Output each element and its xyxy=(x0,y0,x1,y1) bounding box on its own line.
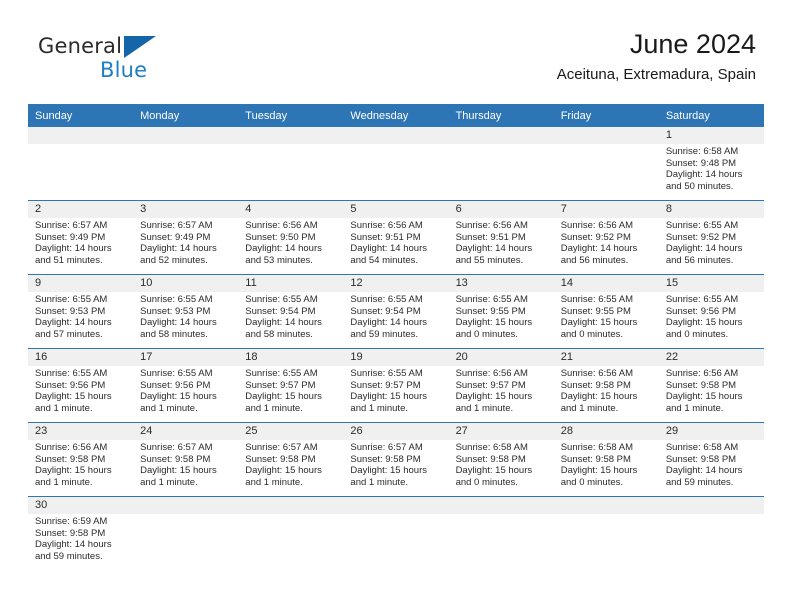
day-sun-info: Sunrise: 6:58 AMSunset: 9:58 PMDaylight:… xyxy=(449,440,554,489)
sunset-text: Sunset: 9:52 PM xyxy=(666,232,758,244)
daylight-text-line1: Daylight: 14 hours xyxy=(140,243,232,255)
day-number: 21 xyxy=(554,349,659,366)
sunrise-text: Sunrise: 6:57 AM xyxy=(245,442,337,454)
day-sun-info: Sunrise: 6:55 AMSunset: 9:56 PMDaylight:… xyxy=(659,292,764,341)
day-number: 5 xyxy=(343,201,448,218)
calendar-cell-inner xyxy=(343,497,448,570)
calendar-cell-inner: 14Sunrise: 6:55 AMSunset: 9:55 PMDayligh… xyxy=(554,275,659,348)
sunrise-text: Sunrise: 6:58 AM xyxy=(666,442,758,454)
daylight-text-line1: Daylight: 14 hours xyxy=(140,317,232,329)
day-sun-info: Sunrise: 6:58 AMSunset: 9:58 PMDaylight:… xyxy=(659,440,764,489)
calendar-cell-inner: 17Sunrise: 6:55 AMSunset: 9:56 PMDayligh… xyxy=(133,349,238,422)
calendar-cell-inner: 6Sunrise: 6:56 AMSunset: 9:51 PMDaylight… xyxy=(449,201,554,274)
sunset-text: Sunset: 9:54 PM xyxy=(350,306,442,318)
daylight-text-line1: Daylight: 14 hours xyxy=(245,243,337,255)
day-number: 17 xyxy=(133,349,238,366)
daylight-text-line2: and 56 minutes. xyxy=(666,255,758,267)
daylight-text-line2: and 1 minute. xyxy=(456,403,548,415)
calendar-cell-inner: 23Sunrise: 6:56 AMSunset: 9:58 PMDayligh… xyxy=(28,423,133,496)
daylight-text-line1: Daylight: 14 hours xyxy=(666,465,758,477)
day-number: 8 xyxy=(659,201,764,218)
sunset-text: Sunset: 9:58 PM xyxy=(140,454,232,466)
day-sun-info: Sunrise: 6:55 AMSunset: 9:53 PMDaylight:… xyxy=(133,292,238,341)
calendar-cell-inner: 22Sunrise: 6:56 AMSunset: 9:58 PMDayligh… xyxy=(659,349,764,422)
calendar-day-cell[interactable]: 2Sunrise: 6:57 AMSunset: 9:49 PMDaylight… xyxy=(28,201,133,275)
day-number: 14 xyxy=(554,275,659,292)
calendar-day-cell[interactable]: 22Sunrise: 6:56 AMSunset: 9:58 PMDayligh… xyxy=(659,349,764,423)
calendar-day-cell[interactable]: 12Sunrise: 6:55 AMSunset: 9:54 PMDayligh… xyxy=(343,275,448,349)
day-sun-info: Sunrise: 6:58 AMSunset: 9:58 PMDaylight:… xyxy=(554,440,659,489)
daylight-text-line1: Daylight: 15 hours xyxy=(666,317,758,329)
sunrise-text: Sunrise: 6:55 AM xyxy=(245,368,337,380)
calendar-cell-inner xyxy=(554,497,659,570)
calendar-cell-inner xyxy=(133,127,238,200)
sunset-text: Sunset: 9:58 PM xyxy=(456,454,548,466)
sunrise-text: Sunrise: 6:57 AM xyxy=(140,442,232,454)
sunrise-text: Sunrise: 6:59 AM xyxy=(35,516,127,528)
calendar-cell-inner: 27Sunrise: 6:58 AMSunset: 9:58 PMDayligh… xyxy=(449,423,554,496)
daylight-text-line2: and 1 minute. xyxy=(666,403,758,415)
weekday-header-monday: Monday xyxy=(133,104,238,127)
daylight-text-line1: Daylight: 14 hours xyxy=(350,317,442,329)
daylight-text-line1: Daylight: 15 hours xyxy=(456,391,548,403)
calendar-cell-inner: 26Sunrise: 6:57 AMSunset: 9:58 PMDayligh… xyxy=(343,423,448,496)
calendar-day-cell[interactable]: 16Sunrise: 6:55 AMSunset: 9:56 PMDayligh… xyxy=(28,349,133,423)
calendar-cell-inner: 16Sunrise: 6:55 AMSunset: 9:56 PMDayligh… xyxy=(28,349,133,422)
sunrise-text: Sunrise: 6:58 AM xyxy=(666,146,758,158)
day-number: 20 xyxy=(449,349,554,366)
sunset-text: Sunset: 9:58 PM xyxy=(666,454,758,466)
day-number: 4 xyxy=(238,201,343,218)
sunrise-text: Sunrise: 6:55 AM xyxy=(140,294,232,306)
calendar-day-cell[interactable]: 26Sunrise: 6:57 AMSunset: 9:58 PMDayligh… xyxy=(343,423,448,497)
daylight-text-line1: Daylight: 15 hours xyxy=(666,391,758,403)
calendar-day-cell[interactable]: 29Sunrise: 6:58 AMSunset: 9:58 PMDayligh… xyxy=(659,423,764,497)
day-number: 19 xyxy=(343,349,448,366)
day-number: 12 xyxy=(343,275,448,292)
day-number: 28 xyxy=(554,423,659,440)
daylight-text-line1: Daylight: 14 hours xyxy=(350,243,442,255)
calendar-body: 1Sunrise: 6:58 AMSunset: 9:48 PMDaylight… xyxy=(28,127,764,570)
daylight-text-line1: Daylight: 15 hours xyxy=(140,391,232,403)
sunrise-text: Sunrise: 6:56 AM xyxy=(456,368,548,380)
sunrise-text: Sunrise: 6:58 AM xyxy=(561,442,653,454)
daylight-text-line2: and 1 minute. xyxy=(140,403,232,415)
daylight-text-line2: and 1 minute. xyxy=(350,477,442,489)
calendar-cell-inner xyxy=(238,497,343,570)
sunset-text: Sunset: 9:49 PM xyxy=(140,232,232,244)
calendar-cell-empty xyxy=(343,127,448,201)
sunrise-text: Sunrise: 6:55 AM xyxy=(666,220,758,232)
page-title: June 2024 xyxy=(557,28,756,60)
calendar-day-cell[interactable]: 23Sunrise: 6:56 AMSunset: 9:58 PMDayligh… xyxy=(28,423,133,497)
daylight-text-line1: Daylight: 15 hours xyxy=(561,317,653,329)
calendar-cell-inner: 4Sunrise: 6:56 AMSunset: 9:50 PMDaylight… xyxy=(238,201,343,274)
calendar-day-cell[interactable]: 3Sunrise: 6:57 AMSunset: 9:49 PMDaylight… xyxy=(133,201,238,275)
title-block: June 2024 Aceituna, Extremadura, Spain xyxy=(557,28,756,86)
sunrise-text: Sunrise: 6:57 AM xyxy=(140,220,232,232)
sunset-text: Sunset: 9:55 PM xyxy=(456,306,548,318)
sunrise-text: Sunrise: 6:56 AM xyxy=(350,220,442,232)
day-number xyxy=(238,497,343,514)
sunrise-text: Sunrise: 6:55 AM xyxy=(456,294,548,306)
calendar-day-cell[interactable]: 21Sunrise: 6:56 AMSunset: 9:58 PMDayligh… xyxy=(554,349,659,423)
calendar-cell-inner xyxy=(133,497,238,570)
calendar-cell-inner: 24Sunrise: 6:57 AMSunset: 9:58 PMDayligh… xyxy=(133,423,238,496)
calendar-day-cell[interactable]: 5Sunrise: 6:56 AMSunset: 9:51 PMDaylight… xyxy=(343,201,448,275)
calendar-cell-inner xyxy=(659,497,764,570)
calendar-day-cell[interactable]: 27Sunrise: 6:58 AMSunset: 9:58 PMDayligh… xyxy=(449,423,554,497)
daylight-text-line1: Daylight: 15 hours xyxy=(245,465,337,477)
day-number: 29 xyxy=(659,423,764,440)
calendar-day-cell[interactable]: 8Sunrise: 6:55 AMSunset: 9:52 PMDaylight… xyxy=(659,201,764,275)
calendar-cell-inner: 11Sunrise: 6:55 AMSunset: 9:54 PMDayligh… xyxy=(238,275,343,348)
weekday-header-friday: Friday xyxy=(554,104,659,127)
calendar-cell-inner: 15Sunrise: 6:55 AMSunset: 9:56 PMDayligh… xyxy=(659,275,764,348)
day-number xyxy=(343,127,448,144)
day-number: 7 xyxy=(554,201,659,218)
calendar-day-cell[interactable]: 14Sunrise: 6:55 AMSunset: 9:55 PMDayligh… xyxy=(554,275,659,349)
weekday-header-saturday: Saturday xyxy=(659,104,764,127)
daylight-text-line1: Daylight: 15 hours xyxy=(35,391,127,403)
calendar-week-row: 2Sunrise: 6:57 AMSunset: 9:49 PMDaylight… xyxy=(28,201,764,275)
day-sun-info: Sunrise: 6:58 AMSunset: 9:48 PMDaylight:… xyxy=(659,144,764,193)
day-sun-info: Sunrise: 6:55 AMSunset: 9:56 PMDaylight:… xyxy=(28,366,133,415)
calendar-cell-empty xyxy=(28,127,133,201)
page-header: General Blue June 2024 Aceituna, Extrema… xyxy=(28,28,764,98)
sunset-text: Sunset: 9:58 PM xyxy=(35,528,127,540)
daylight-text-line2: and 0 minutes. xyxy=(561,477,653,489)
calendar-cell-inner xyxy=(554,127,659,200)
day-number xyxy=(554,127,659,144)
day-number: 26 xyxy=(343,423,448,440)
daylight-text-line2: and 0 minutes. xyxy=(561,329,653,341)
day-number: 23 xyxy=(28,423,133,440)
daylight-text-line2: and 1 minute. xyxy=(245,403,337,415)
sunrise-text: Sunrise: 6:57 AM xyxy=(35,220,127,232)
daylight-text-line2: and 58 minutes. xyxy=(140,329,232,341)
page-subtitle: Aceituna, Extremadura, Spain xyxy=(557,64,756,86)
calendar-day-cell[interactable]: 9Sunrise: 6:55 AMSunset: 9:53 PMDaylight… xyxy=(28,275,133,349)
calendar-cell-inner: 28Sunrise: 6:58 AMSunset: 9:58 PMDayligh… xyxy=(554,423,659,496)
sunrise-text: Sunrise: 6:55 AM xyxy=(245,294,337,306)
daylight-text-line2: and 55 minutes. xyxy=(456,255,548,267)
calendar-day-cell[interactable]: 30Sunrise: 6:59 AMSunset: 9:58 PMDayligh… xyxy=(28,497,133,571)
daylight-text-line2: and 59 minutes. xyxy=(35,551,127,563)
sunrise-text: Sunrise: 6:55 AM xyxy=(35,294,127,306)
day-number: 10 xyxy=(133,275,238,292)
day-sun-info: Sunrise: 6:56 AMSunset: 9:50 PMDaylight:… xyxy=(238,218,343,267)
calendar-cell-inner: 13Sunrise: 6:55 AMSunset: 9:55 PMDayligh… xyxy=(449,275,554,348)
daylight-text-line2: and 59 minutes. xyxy=(666,477,758,489)
day-number: 22 xyxy=(659,349,764,366)
calendar-cell-inner: 10Sunrise: 6:55 AMSunset: 9:53 PMDayligh… xyxy=(133,275,238,348)
day-sun-info: Sunrise: 6:59 AMSunset: 9:58 PMDaylight:… xyxy=(28,514,133,563)
day-sun-info: Sunrise: 6:57 AMSunset: 9:58 PMDaylight:… xyxy=(238,440,343,489)
sunset-text: Sunset: 9:58 PM xyxy=(561,380,653,392)
daylight-text-line1: Daylight: 15 hours xyxy=(35,465,127,477)
weekday-header-wednesday: Wednesday xyxy=(343,104,448,127)
sunset-text: Sunset: 9:58 PM xyxy=(35,454,127,466)
day-number xyxy=(659,497,764,514)
sunset-text: Sunset: 9:51 PM xyxy=(350,232,442,244)
sunrise-text: Sunrise: 6:56 AM xyxy=(666,368,758,380)
calendar-day-cell[interactable]: 28Sunrise: 6:58 AMSunset: 9:58 PMDayligh… xyxy=(554,423,659,497)
day-sun-info: Sunrise: 6:57 AMSunset: 9:49 PMDaylight:… xyxy=(28,218,133,267)
sunrise-text: Sunrise: 6:56 AM xyxy=(561,220,653,232)
daylight-text-line2: and 51 minutes. xyxy=(35,255,127,267)
daylight-text-line1: Daylight: 14 hours xyxy=(245,317,337,329)
calendar-day-cell[interactable]: 13Sunrise: 6:55 AMSunset: 9:55 PMDayligh… xyxy=(449,275,554,349)
sunrise-text: Sunrise: 6:55 AM xyxy=(561,294,653,306)
calendar-page: General Blue June 2024 Aceituna, Extrema… xyxy=(0,0,792,612)
day-number xyxy=(238,127,343,144)
day-number xyxy=(28,127,133,144)
sunset-text: Sunset: 9:58 PM xyxy=(350,454,442,466)
daylight-text-line2: and 0 minutes. xyxy=(666,329,758,341)
calendar-cell-inner: 20Sunrise: 6:56 AMSunset: 9:57 PMDayligh… xyxy=(449,349,554,422)
sunrise-text: Sunrise: 6:55 AM xyxy=(350,294,442,306)
sunrise-text: Sunrise: 6:56 AM xyxy=(561,368,653,380)
day-sun-info: Sunrise: 6:56 AMSunset: 9:51 PMDaylight:… xyxy=(449,218,554,267)
brand-name-general: General xyxy=(38,34,122,58)
calendar-cell-empty xyxy=(659,497,764,571)
calendar-cell-empty xyxy=(449,497,554,571)
brand-name-blue: Blue xyxy=(100,58,147,82)
sunset-text: Sunset: 9:52 PM xyxy=(561,232,653,244)
calendar-cell-inner xyxy=(28,127,133,200)
daylight-text-line1: Daylight: 14 hours xyxy=(35,539,127,551)
calendar-grid: Sunday Monday Tuesday Wednesday Thursday… xyxy=(28,104,764,570)
day-number: 15 xyxy=(659,275,764,292)
day-sun-info: Sunrise: 6:56 AMSunset: 9:51 PMDaylight:… xyxy=(343,218,448,267)
calendar-cell-inner: 9Sunrise: 6:55 AMSunset: 9:53 PMDaylight… xyxy=(28,275,133,348)
daylight-text-line1: Daylight: 14 hours xyxy=(35,317,127,329)
calendar-day-cell[interactable]: 4Sunrise: 6:56 AMSunset: 9:50 PMDaylight… xyxy=(238,201,343,275)
calendar-cell-inner: 3Sunrise: 6:57 AMSunset: 9:49 PMDaylight… xyxy=(133,201,238,274)
brand-logo[interactable]: General Blue xyxy=(38,34,238,90)
calendar-cell-empty xyxy=(238,127,343,201)
daylight-text-line2: and 1 minute. xyxy=(350,403,442,415)
daylight-text-line1: Daylight: 15 hours xyxy=(561,465,653,477)
sunset-text: Sunset: 9:51 PM xyxy=(456,232,548,244)
calendar-cell-empty xyxy=(554,497,659,571)
calendar-cell-inner: 5Sunrise: 6:56 AMSunset: 9:51 PMDaylight… xyxy=(343,201,448,274)
daylight-text-line2: and 1 minute. xyxy=(35,403,127,415)
calendar-cell-empty xyxy=(554,127,659,201)
daylight-text-line1: Daylight: 15 hours xyxy=(350,391,442,403)
calendar-cell-empty xyxy=(343,497,448,571)
calendar-cell-inner xyxy=(449,127,554,200)
sunrise-text: Sunrise: 6:55 AM xyxy=(666,294,758,306)
weekday-header-tuesday: Tuesday xyxy=(238,104,343,127)
daylight-text-line2: and 0 minutes. xyxy=(456,329,548,341)
day-sun-info: Sunrise: 6:56 AMSunset: 9:58 PMDaylight:… xyxy=(28,440,133,489)
daylight-text-line2: and 59 minutes. xyxy=(350,329,442,341)
day-sun-info: Sunrise: 6:57 AMSunset: 9:58 PMDaylight:… xyxy=(343,440,448,489)
day-sun-info: Sunrise: 6:55 AMSunset: 9:52 PMDaylight:… xyxy=(659,218,764,267)
sunrise-text: Sunrise: 6:55 AM xyxy=(350,368,442,380)
day-number: 27 xyxy=(449,423,554,440)
sunset-text: Sunset: 9:56 PM xyxy=(666,306,758,318)
calendar-day-cell[interactable]: 17Sunrise: 6:55 AMSunset: 9:56 PMDayligh… xyxy=(133,349,238,423)
calendar-week-row: 9Sunrise: 6:55 AMSunset: 9:53 PMDaylight… xyxy=(28,275,764,349)
daylight-text-line1: Daylight: 14 hours xyxy=(456,243,548,255)
sunrise-text: Sunrise: 6:55 AM xyxy=(35,368,127,380)
daylight-text-line1: Daylight: 15 hours xyxy=(561,391,653,403)
sunset-text: Sunset: 9:57 PM xyxy=(350,380,442,392)
calendar-day-cell[interactable]: 1Sunrise: 6:58 AMSunset: 9:48 PMDaylight… xyxy=(659,127,764,201)
triangle-flag-icon xyxy=(124,36,156,58)
calendar-day-cell[interactable]: 7Sunrise: 6:56 AMSunset: 9:52 PMDaylight… xyxy=(554,201,659,275)
calendar-cell-inner: 1Sunrise: 6:58 AMSunset: 9:48 PMDaylight… xyxy=(659,127,764,200)
day-sun-info: Sunrise: 6:55 AMSunset: 9:54 PMDaylight:… xyxy=(343,292,448,341)
daylight-text-line1: Daylight: 14 hours xyxy=(561,243,653,255)
day-sun-info: Sunrise: 6:55 AMSunset: 9:57 PMDaylight:… xyxy=(343,366,448,415)
sunset-text: Sunset: 9:54 PM xyxy=(245,306,337,318)
weekday-header-thursday: Thursday xyxy=(449,104,554,127)
daylight-text-line2: and 52 minutes. xyxy=(140,255,232,267)
sunset-text: Sunset: 9:56 PM xyxy=(35,380,127,392)
day-sun-info: Sunrise: 6:56 AMSunset: 9:57 PMDaylight:… xyxy=(449,366,554,415)
calendar-week-row: 1Sunrise: 6:58 AMSunset: 9:48 PMDaylight… xyxy=(28,127,764,201)
day-number: 6 xyxy=(449,201,554,218)
day-sun-info: Sunrise: 6:55 AMSunset: 9:57 PMDaylight:… xyxy=(238,366,343,415)
day-sun-info: Sunrise: 6:57 AMSunset: 9:49 PMDaylight:… xyxy=(133,218,238,267)
calendar-cell-inner xyxy=(449,497,554,570)
daylight-text-line1: Daylight: 15 hours xyxy=(140,465,232,477)
daylight-text-line1: Daylight: 15 hours xyxy=(456,317,548,329)
day-number xyxy=(449,497,554,514)
calendar-day-cell[interactable]: 10Sunrise: 6:55 AMSunset: 9:53 PMDayligh… xyxy=(133,275,238,349)
sunset-text: Sunset: 9:48 PM xyxy=(666,158,758,170)
sunset-text: Sunset: 9:49 PM xyxy=(35,232,127,244)
day-sun-info: Sunrise: 6:55 AMSunset: 9:55 PMDaylight:… xyxy=(554,292,659,341)
daylight-text-line1: Daylight: 15 hours xyxy=(350,465,442,477)
daylight-text-line1: Daylight: 15 hours xyxy=(245,391,337,403)
calendar-day-cell[interactable]: 6Sunrise: 6:56 AMSunset: 9:51 PMDaylight… xyxy=(449,201,554,275)
daylight-text-line1: Daylight: 14 hours xyxy=(666,169,758,181)
calendar-week-row: 23Sunrise: 6:56 AMSunset: 9:58 PMDayligh… xyxy=(28,423,764,497)
sunrise-text: Sunrise: 6:58 AM xyxy=(456,442,548,454)
day-number xyxy=(449,127,554,144)
daylight-text-line2: and 1 minute. xyxy=(561,403,653,415)
daylight-text-line2: and 56 minutes. xyxy=(561,255,653,267)
day-number xyxy=(133,497,238,514)
calendar-cell-empty xyxy=(133,127,238,201)
calendar-week-row: 30Sunrise: 6:59 AMSunset: 9:58 PMDayligh… xyxy=(28,497,764,571)
weekday-header-sunday: Sunday xyxy=(28,104,133,127)
day-number: 11 xyxy=(238,275,343,292)
day-number: 24 xyxy=(133,423,238,440)
weekday-header-row: Sunday Monday Tuesday Wednesday Thursday… xyxy=(28,104,764,127)
sunset-text: Sunset: 9:50 PM xyxy=(245,232,337,244)
daylight-text-line2: and 1 minute. xyxy=(35,477,127,489)
calendar-cell-inner: 12Sunrise: 6:55 AMSunset: 9:54 PMDayligh… xyxy=(343,275,448,348)
calendar-day-cell[interactable]: 20Sunrise: 6:56 AMSunset: 9:57 PMDayligh… xyxy=(449,349,554,423)
sunset-text: Sunset: 9:57 PM xyxy=(245,380,337,392)
daylight-text-line2: and 53 minutes. xyxy=(245,255,337,267)
calendar-day-cell[interactable]: 18Sunrise: 6:55 AMSunset: 9:57 PMDayligh… xyxy=(238,349,343,423)
daylight-text-line2: and 1 minute. xyxy=(140,477,232,489)
calendar-day-cell[interactable]: 25Sunrise: 6:57 AMSunset: 9:58 PMDayligh… xyxy=(238,423,343,497)
calendar-cell-inner: 30Sunrise: 6:59 AMSunset: 9:58 PMDayligh… xyxy=(28,497,133,570)
daylight-text-line1: Daylight: 15 hours xyxy=(456,465,548,477)
day-number: 13 xyxy=(449,275,554,292)
sunset-text: Sunset: 9:58 PM xyxy=(666,380,758,392)
calendar-week-row: 16Sunrise: 6:55 AMSunset: 9:56 PMDayligh… xyxy=(28,349,764,423)
calendar-cell-empty xyxy=(133,497,238,571)
sunrise-text: Sunrise: 6:56 AM xyxy=(456,220,548,232)
daylight-text-line1: Daylight: 14 hours xyxy=(666,243,758,255)
day-number: 25 xyxy=(238,423,343,440)
daylight-text-line2: and 58 minutes. xyxy=(245,329,337,341)
daylight-text-line1: Daylight: 14 hours xyxy=(35,243,127,255)
calendar-cell-inner: 7Sunrise: 6:56 AMSunset: 9:52 PMDaylight… xyxy=(554,201,659,274)
day-sun-info: Sunrise: 6:55 AMSunset: 9:54 PMDaylight:… xyxy=(238,292,343,341)
calendar-cell-inner xyxy=(238,127,343,200)
day-number: 3 xyxy=(133,201,238,218)
daylight-text-line2: and 57 minutes. xyxy=(35,329,127,341)
sunset-text: Sunset: 9:56 PM xyxy=(140,380,232,392)
day-number: 18 xyxy=(238,349,343,366)
day-number: 30 xyxy=(28,497,133,514)
day-sun-info: Sunrise: 6:57 AMSunset: 9:58 PMDaylight:… xyxy=(133,440,238,489)
daylight-text-line2: and 50 minutes. xyxy=(666,181,758,193)
day-number: 9 xyxy=(28,275,133,292)
day-sun-info: Sunrise: 6:55 AMSunset: 9:56 PMDaylight:… xyxy=(133,366,238,415)
sunrise-text: Sunrise: 6:55 AM xyxy=(140,368,232,380)
day-number xyxy=(554,497,659,514)
sunset-text: Sunset: 9:53 PM xyxy=(140,306,232,318)
calendar-cell-empty xyxy=(449,127,554,201)
daylight-text-line2: and 1 minute. xyxy=(245,477,337,489)
sunset-text: Sunset: 9:53 PM xyxy=(35,306,127,318)
day-sun-info: Sunrise: 6:55 AMSunset: 9:55 PMDaylight:… xyxy=(449,292,554,341)
calendar-cell-inner: 25Sunrise: 6:57 AMSunset: 9:58 PMDayligh… xyxy=(238,423,343,496)
calendar-day-cell[interactable]: 19Sunrise: 6:55 AMSunset: 9:57 PMDayligh… xyxy=(343,349,448,423)
calendar-cell-inner: 19Sunrise: 6:55 AMSunset: 9:57 PMDayligh… xyxy=(343,349,448,422)
day-number xyxy=(133,127,238,144)
calendar-day-cell[interactable]: 15Sunrise: 6:55 AMSunset: 9:56 PMDayligh… xyxy=(659,275,764,349)
sunset-text: Sunset: 9:57 PM xyxy=(456,380,548,392)
calendar-cell-inner: 29Sunrise: 6:58 AMSunset: 9:58 PMDayligh… xyxy=(659,423,764,496)
calendar-cell-inner: 2Sunrise: 6:57 AMSunset: 9:49 PMDaylight… xyxy=(28,201,133,274)
sunset-text: Sunset: 9:58 PM xyxy=(561,454,653,466)
calendar-cell-inner: 21Sunrise: 6:56 AMSunset: 9:58 PMDayligh… xyxy=(554,349,659,422)
calendar-cell-inner: 18Sunrise: 6:55 AMSunset: 9:57 PMDayligh… xyxy=(238,349,343,422)
day-sun-info: Sunrise: 6:55 AMSunset: 9:53 PMDaylight:… xyxy=(28,292,133,341)
day-sun-info: Sunrise: 6:56 AMSunset: 9:52 PMDaylight:… xyxy=(554,218,659,267)
day-number xyxy=(343,497,448,514)
daylight-text-line2: and 0 minutes. xyxy=(456,477,548,489)
day-number: 16 xyxy=(28,349,133,366)
calendar-cell-empty xyxy=(238,497,343,571)
calendar-cell-inner: 8Sunrise: 6:55 AMSunset: 9:52 PMDaylight… xyxy=(659,201,764,274)
day-sun-info: Sunrise: 6:56 AMSunset: 9:58 PMDaylight:… xyxy=(554,366,659,415)
daylight-text-line2: and 54 minutes. xyxy=(350,255,442,267)
sunrise-text: Sunrise: 6:56 AM xyxy=(245,220,337,232)
day-number: 2 xyxy=(28,201,133,218)
calendar-cell-inner xyxy=(343,127,448,200)
sunset-text: Sunset: 9:58 PM xyxy=(245,454,337,466)
sunrise-text: Sunrise: 6:56 AM xyxy=(35,442,127,454)
sunset-text: Sunset: 9:55 PM xyxy=(561,306,653,318)
calendar-day-cell[interactable]: 11Sunrise: 6:55 AMSunset: 9:54 PMDayligh… xyxy=(238,275,343,349)
day-number: 1 xyxy=(659,127,764,144)
calendar-day-cell[interactable]: 24Sunrise: 6:57 AMSunset: 9:58 PMDayligh… xyxy=(133,423,238,497)
sunrise-text: Sunrise: 6:57 AM xyxy=(350,442,442,454)
